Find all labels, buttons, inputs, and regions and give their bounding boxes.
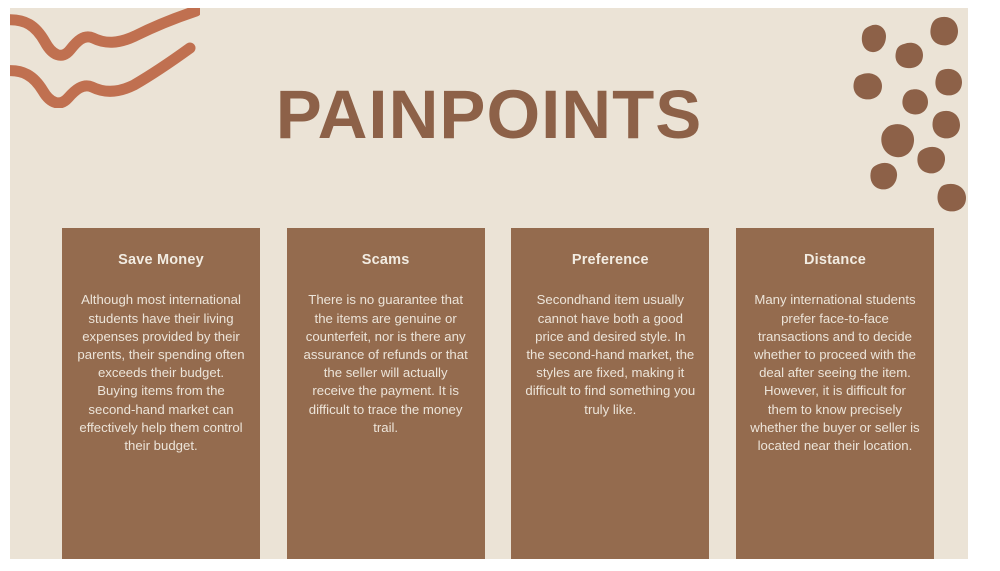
card-title: Scams [362, 252, 410, 269]
card-title: Preference [572, 252, 649, 269]
card-body: There is no guarantee that the items are… [301, 291, 471, 437]
card-body: Secondhand item usually cannot have both… [525, 291, 695, 419]
card-title: Save Money [118, 252, 204, 269]
painpoint-card-save-money: Save Money Although most international s… [62, 228, 260, 559]
page-title: PAINPOINTS [10, 80, 968, 149]
card-body: Many international students prefer face-… [750, 291, 920, 455]
painpoint-cards-row: Save Money Although most international s… [62, 228, 934, 559]
card-title: Distance [804, 252, 866, 269]
painpoint-card-scams: Scams There is no guarantee that the ite… [287, 228, 485, 559]
painpoint-card-distance: Distance Many international students pre… [736, 228, 934, 559]
slide-canvas: PAINPOINTS Save Money Although most inte… [10, 8, 968, 559]
painpoint-card-preference: Preference Secondhand item usually canno… [511, 228, 709, 559]
card-body: Although most international students hav… [76, 291, 246, 455]
